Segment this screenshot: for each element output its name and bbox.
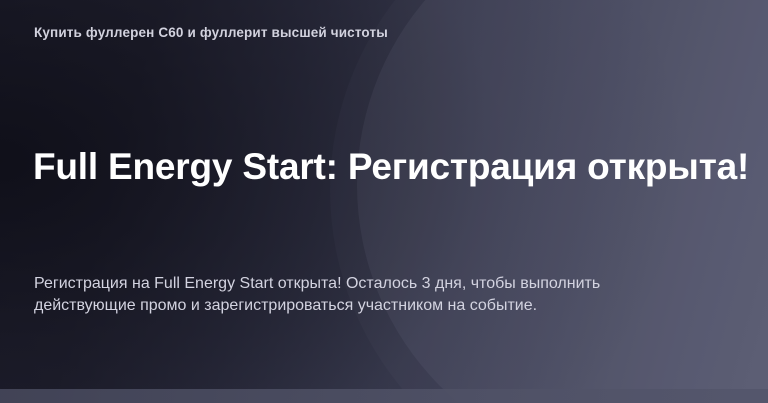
banner-description: Регистрация на Full Energy Start открыта… [34,273,704,317]
page-title: Full Energy Start: Регистрация открыта! [33,147,749,188]
site-tagline: Купить фуллерен C60 и фуллерит высшей чи… [34,25,388,40]
promo-banner: Купить фуллерен C60 и фуллерит высшей чи… [0,0,768,403]
banner-content: Купить фуллерен C60 и фуллерит высшей чи… [0,0,768,403]
